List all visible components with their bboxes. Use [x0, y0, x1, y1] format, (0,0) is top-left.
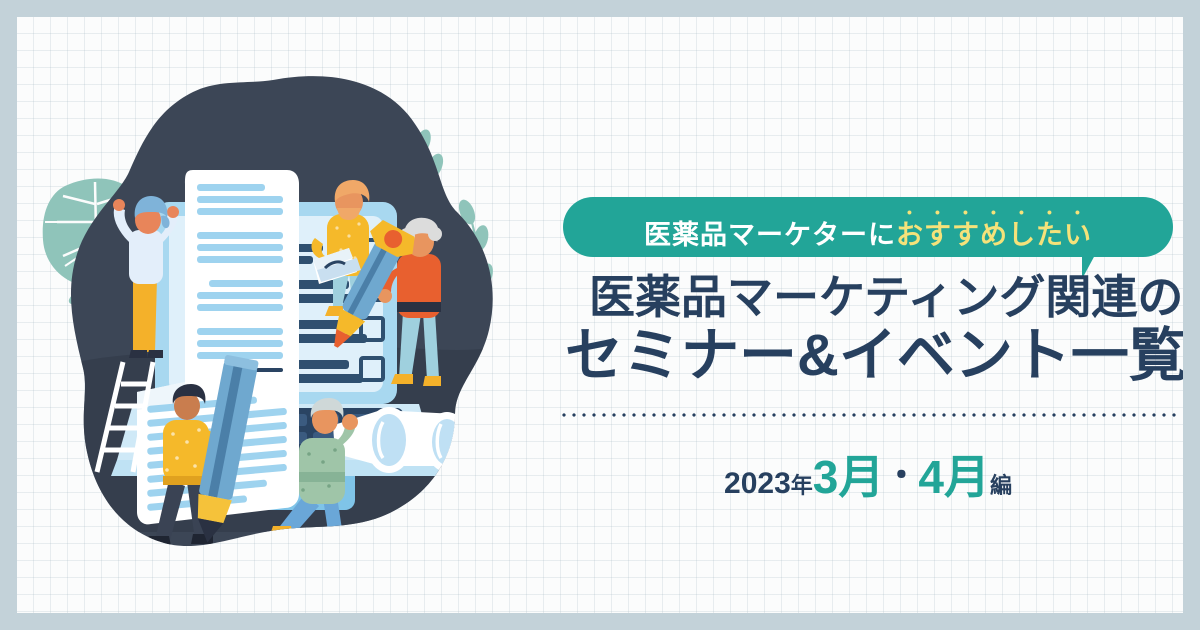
date-range-label: 2023年3月・4月編	[537, 454, 1183, 500]
date-year: 2023	[724, 467, 791, 500]
date-month-first: 3月	[813, 451, 885, 503]
text-content-area: 医薬品マーケターにおすすめしたい 医薬品マーケティング関連の セミナー&イベント…	[537, 17, 1183, 613]
date-suffix: 編	[990, 473, 1012, 498]
banner-root: 医薬品マーケターにおすすめしたい 医薬品マーケティング関連の セミナー&イベント…	[0, 0, 1200, 630]
page-title-line1: 医薬品マーケティング関連の	[589, 274, 1183, 320]
bubble-label: 医薬品マーケターにおすすめしたい	[644, 204, 1092, 250]
bubble-plain-text: 医薬品マーケターに	[644, 220, 896, 250]
date-year-unit: 年	[791, 473, 813, 498]
hero-illustration	[37, 62, 507, 582]
bubble-highlight-text: おすすめしたい	[896, 220, 1092, 250]
page-title-line2: セミナー&イベント一覧	[565, 327, 1183, 385]
date-month-second: 4月	[918, 451, 990, 503]
date-separator: ・	[884, 457, 918, 495]
grid-paper-background: 医薬品マーケターにおすすめしたい 医薬品マーケティング関連の セミナー&イベント…	[17, 17, 1183, 613]
dotted-divider	[559, 413, 1179, 417]
recommendation-bubble: 医薬品マーケターにおすすめしたい	[563, 197, 1173, 257]
